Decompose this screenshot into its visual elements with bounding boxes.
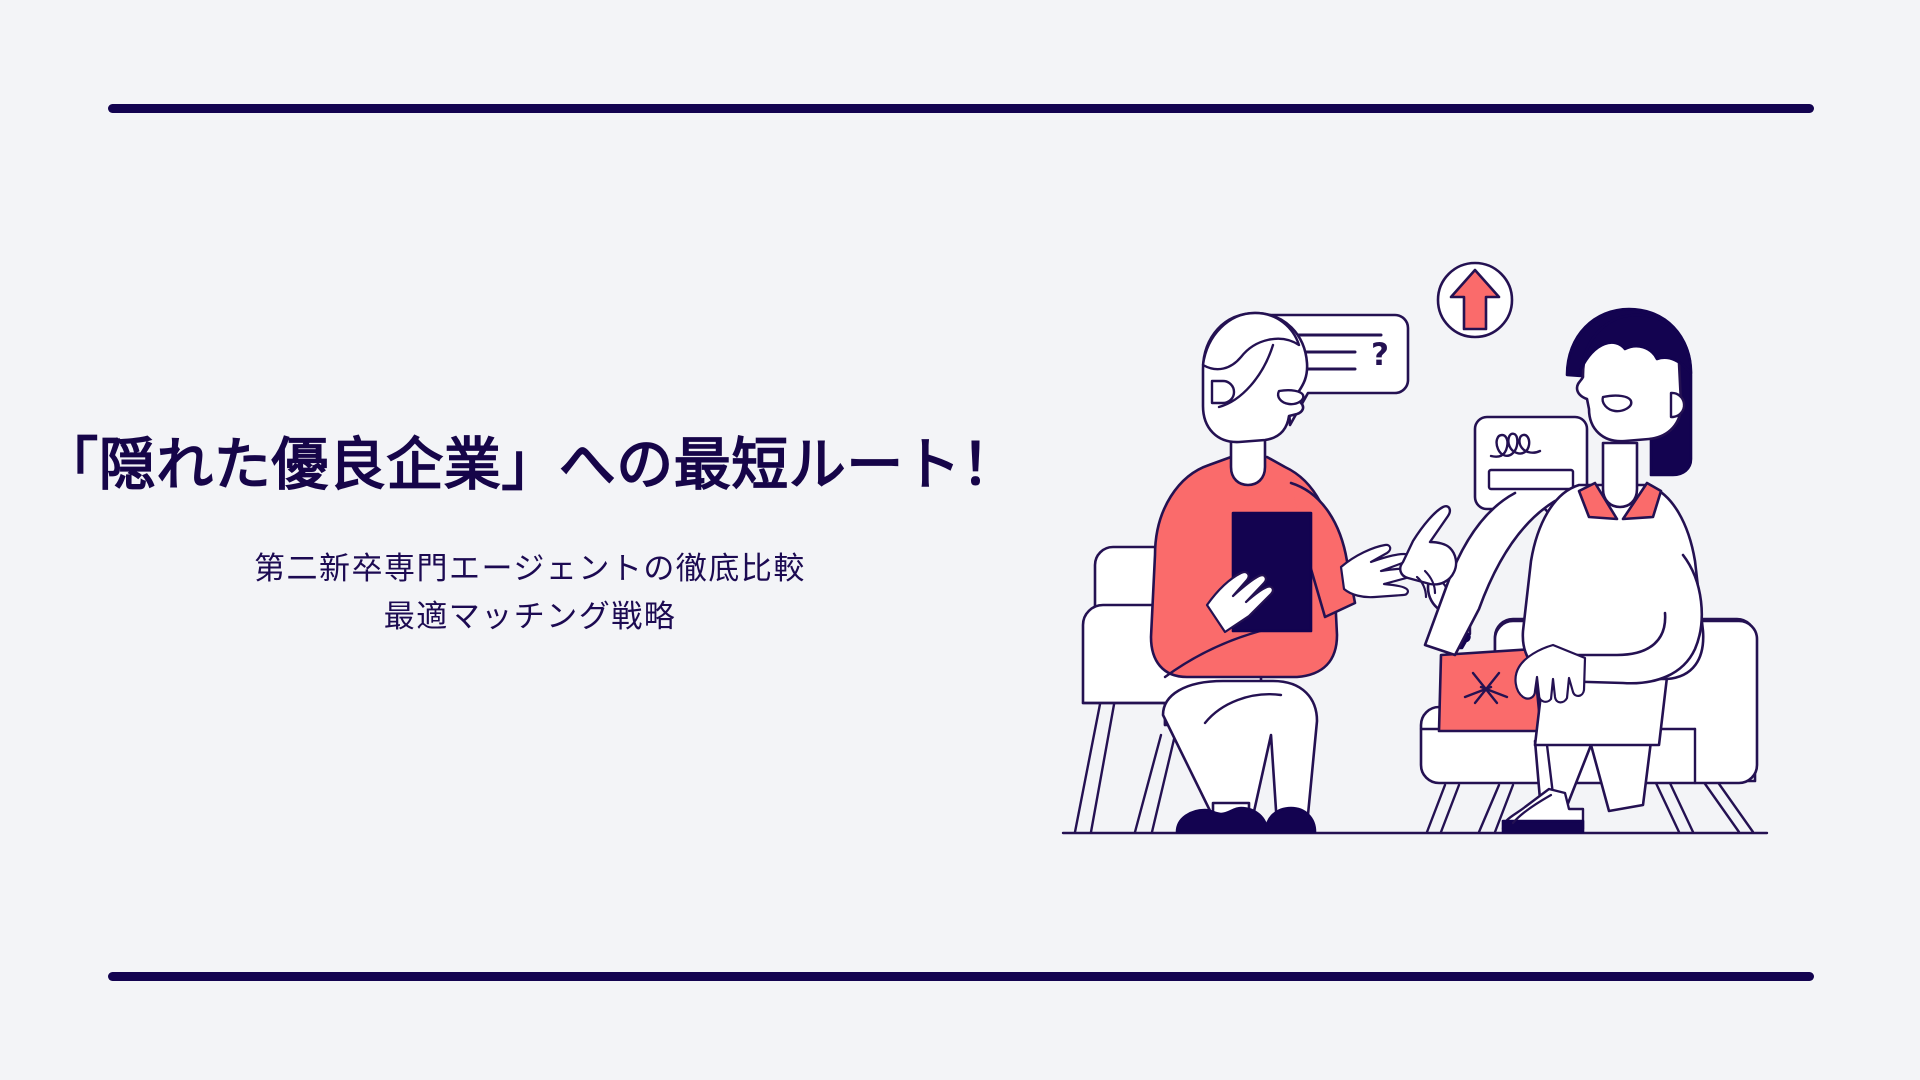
svg-text:?: ? bbox=[1371, 337, 1389, 373]
slide-canvas: 「隠れた優良企業」への最短ルート！ 第二新卒専門エージェントの徹底比較 最適マッ… bbox=[0, 0, 1920, 1080]
subtitle-line-1: 第二新卒専門エージェントの徹底比較 bbox=[0, 545, 1060, 593]
top-divider-rule bbox=[108, 104, 1814, 113]
page-title: 「隠れた優良企業」への最短ルート！ bbox=[0, 430, 1060, 501]
hero-illustration: ? bbox=[1055, 225, 1865, 855]
subtitle-line-2: 最適マッチング戦略 bbox=[0, 593, 1060, 641]
bottom-divider-rule bbox=[108, 972, 1814, 981]
headline-block: 「隠れた優良企業」への最短ルート！ 第二新卒専門エージェントの徹底比較 最適マッ… bbox=[0, 430, 1060, 641]
up-arrow-badge-icon bbox=[1438, 263, 1512, 337]
page-subtitle: 第二新卒専門エージェントの徹底比較 最適マッチング戦略 bbox=[0, 545, 1060, 641]
